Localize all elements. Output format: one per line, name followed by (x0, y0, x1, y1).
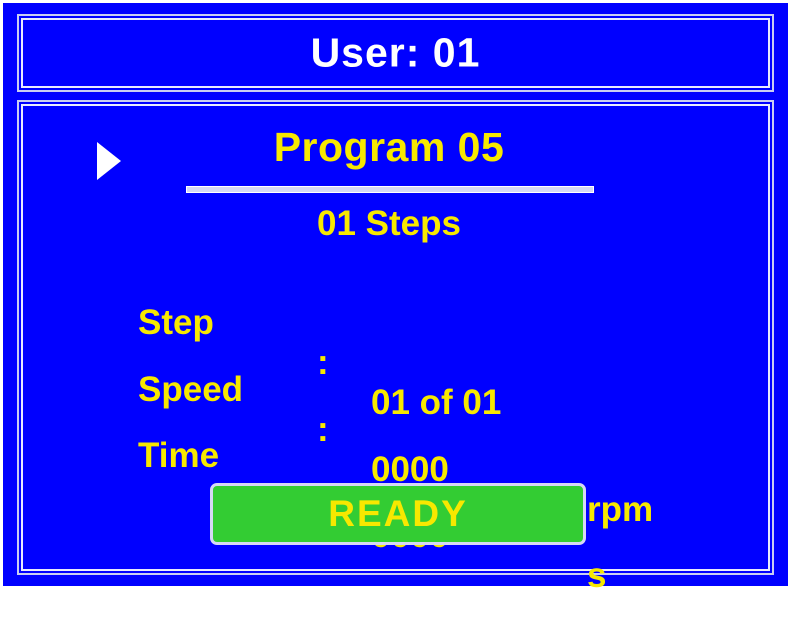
main-panel: Program 05 01 Steps Step : 01 of 01 Spee… (17, 100, 774, 575)
time-unit: s (587, 556, 606, 596)
steps-subtitle: 01 Steps (169, 204, 609, 244)
program-title-underline (186, 186, 594, 193)
status-badge[interactable]: READY (210, 483, 586, 545)
lcd-screen: User: 01 Program 05 01 Steps Step : 01 o… (3, 3, 788, 586)
speed-unit: rpm (587, 490, 653, 530)
table-row: Step : 01 of 01 (19, 263, 772, 309)
user-title: User: 01 (19, 30, 772, 77)
time-label: Time (138, 436, 219, 476)
table-row: Time : 0000 s (19, 396, 772, 442)
status-badge-label: READY (328, 493, 468, 535)
play-triangle-icon (97, 142, 121, 180)
header-panel: User: 01 (17, 14, 774, 92)
table-row: Speed : 0000 rpm (19, 330, 772, 376)
program-title[interactable]: Program 05 (169, 124, 609, 171)
